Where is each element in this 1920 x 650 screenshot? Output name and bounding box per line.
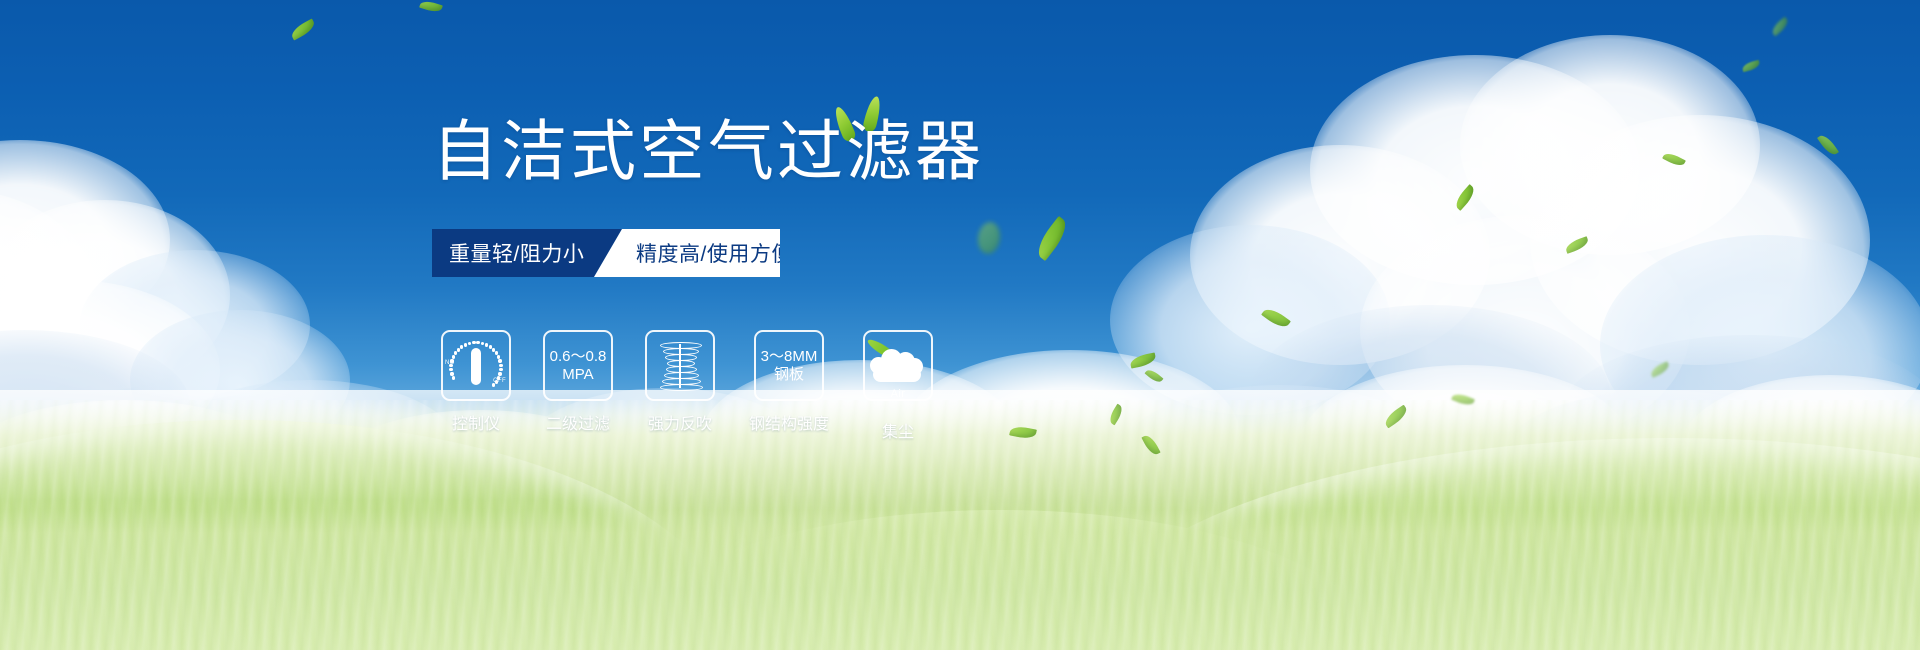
- steel-value-line1: 3～8MM: [761, 348, 818, 366]
- tagline-badge: 重量轻/阻力小 精度高/使用方便: [432, 229, 728, 277]
- tagline-left-text: 重量轻/阻力小: [432, 238, 584, 268]
- tagline-badge-left: 重量轻/阻力小: [432, 229, 622, 277]
- feature-label: 钢结构强度: [749, 410, 829, 434]
- page-title: 自洁式空气过滤器: [432, 118, 984, 184]
- air-cloud-icon: Air: [870, 345, 926, 387]
- feature-icon-box: Air: [863, 330, 933, 401]
- pressure-value-line1: 0.6～0.8: [550, 348, 607, 366]
- feature-icon-box: NO OFF: [441, 330, 511, 401]
- banner-content: 自洁式空气过滤器 重量轻/阻力小 精度高/使用方便 NO OFF: [0, 0, 1920, 650]
- feature-item-backblow[interactable]: 强力反吹: [644, 330, 716, 434]
- feature-icon-box: 3～8MM 钢板: [754, 330, 824, 401]
- gauge-icon: NO OFF: [446, 338, 506, 394]
- feature-item-two-stage-filter[interactable]: 0.6～0.8 MPA 二级过滤: [542, 330, 614, 434]
- feature-item-controller[interactable]: NO OFF 控制仪: [440, 330, 512, 434]
- feature-label: 控制仪: [452, 410, 500, 434]
- feature-list: NO OFF 控制仪 0.6～0.8 MPA 二级过滤: [440, 330, 934, 442]
- pressure-value-line2: MPA: [562, 366, 593, 384]
- feature-label: 强力反吹: [648, 410, 712, 434]
- feature-label: 集尘: [882, 418, 914, 442]
- hero-banner: 自洁式空气过滤器 重量轻/阻力小 精度高/使用方便 NO OFF: [0, 0, 1920, 650]
- feature-label: 二级过滤: [546, 410, 610, 434]
- steel-value-line2: 钢板: [774, 366, 804, 384]
- feature-item-dust-collection[interactable]: Air 集尘: [862, 330, 934, 442]
- feature-icon-box: [645, 330, 715, 401]
- coil-backblow-icon: [657, 340, 703, 392]
- air-label: Air: [870, 388, 926, 400]
- feature-icon-box: 0.6～0.8 MPA: [543, 330, 613, 401]
- tagline-badge-right: 精度高/使用方便: [594, 229, 780, 277]
- feature-item-steel-strength[interactable]: 3～8MM 钢板 钢结构强度: [746, 330, 832, 434]
- tagline-right-text: 精度高/使用方便: [594, 238, 793, 268]
